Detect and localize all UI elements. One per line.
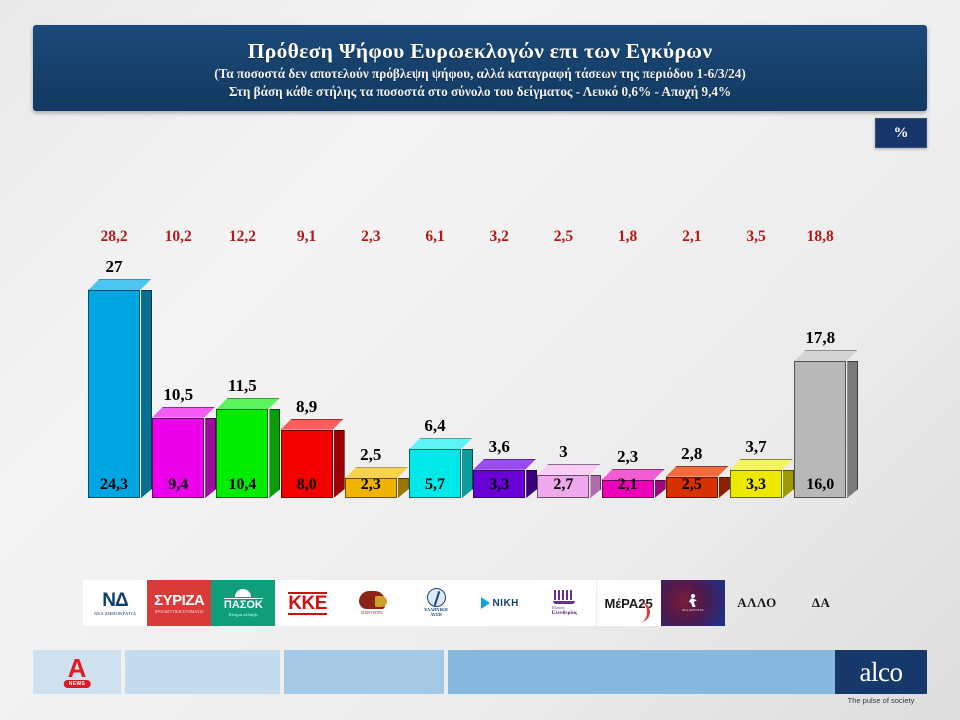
alpha-news-logo: A NEWS [33, 650, 121, 694]
party-logo-mera[interactable]: ΜέΡΑ25 [597, 578, 661, 628]
bar-top-face [88, 279, 151, 290]
bar-el[interactable]: 6,45,7 [409, 449, 461, 498]
bar-side-face [462, 449, 473, 498]
footer-bar-3 [448, 650, 878, 694]
alco-logo: alco [835, 650, 927, 694]
footer-bar: A NEWS alco The pulse of society [0, 646, 960, 720]
bar-allo[interactable]: 3,73,3 [730, 470, 782, 498]
bar-top-label-pleusi: 3 [559, 442, 568, 462]
footer-bar-2 [284, 650, 444, 694]
bar-side-face [783, 470, 794, 498]
bar-inner-label-allo: 3,3 [746, 476, 766, 494]
bar-inner-label-spart: 2,3 [361, 476, 381, 494]
party-logo-el[interactable]: ΕΛΛΗΝΙΚΗΛΥΣΗ [404, 578, 468, 628]
bar-side-face [655, 480, 666, 498]
party-logo-strip: ΝΔΝΕΑ ΔΗΜΟΚΡΑΤΙΑΣΥΡΙΖΑΠΡΟΟΔΕΥΤΙΚΗ ΣΥΜΜΑΧ… [0, 578, 960, 630]
bar-side-face [205, 418, 216, 498]
bar-da[interactable]: 17,816,0 [794, 361, 846, 498]
bar-nearist[interactable]: 2,82,5 [666, 477, 718, 498]
bar-side-face [526, 470, 537, 498]
party-logo-spart[interactable]: ΣΠΑΡΤΙΑΤΕΣ [340, 578, 404, 628]
bar-inner-label-niki: 3,3 [489, 476, 509, 494]
party-logo-da[interactable]: ΔΑ [789, 578, 853, 628]
bar-side-face [719, 477, 730, 498]
party-label-allo: ΑΛΛΟ [737, 595, 776, 611]
party-logo-pleusi[interactable]: ΠλεύσηΕλευθερίας [532, 578, 596, 628]
bar-side-face [398, 478, 409, 498]
bar-kke[interactable]: 8,98,0 [281, 430, 333, 498]
bar-inner-label-kke: 8,0 [297, 476, 317, 494]
bar-top-label-nd: 27 [106, 257, 123, 277]
bar-side-face [334, 430, 345, 498]
alco-wordmark: alco [860, 659, 903, 686]
alco-tagline: The pulse of society [835, 696, 927, 705]
bar-inner-label-nearist: 2,5 [682, 476, 702, 494]
bar-side-face [590, 475, 601, 498]
bar-top-face [152, 407, 215, 418]
party-logo-mark-kke: ΚΚΕ [276, 580, 340, 626]
bar-pasok[interactable]: 11,510,4 [216, 409, 268, 498]
party-logo-mark-pleusi: ΠλεύσηΕλευθερίας [532, 580, 596, 626]
bar-syriza[interactable]: 10,59,4 [152, 418, 204, 498]
bar-spart[interactable]: 2,52,3 [345, 478, 397, 498]
bar-top-face [473, 459, 536, 470]
bar-inner-label-mera: 2,1 [618, 476, 638, 494]
party-logo-syriza[interactable]: ΣΥΡΙΖΑΠΡΟΟΔΕΥΤΙΚΗ ΣΥΜΜΑΧΙΑ [147, 578, 211, 628]
party-logo-mark-spart: ΣΠΑΡΤΙΑΤΕΣ [340, 580, 404, 626]
party-logo-mark-el: ΕΛΛΗΝΙΚΗΛΥΣΗ [404, 580, 468, 626]
bar-inner-label-pasok: 10,4 [228, 476, 256, 494]
party-logo-pasok[interactable]: ΠΑΣΟΚΚίνημα αλλαγής [211, 578, 275, 628]
party-logo-nd[interactable]: ΝΔΝΕΑ ΔΗΜΟΚΡΑΤΙΑ [83, 578, 147, 628]
party-logo-mark-mera: ΜέΡΑ25 [597, 580, 661, 626]
party-logo-nearist[interactable]: ΝΕΑ ΑΡΙΣΤΕΡΑ [661, 578, 725, 628]
bar-top-label-mera: 2,3 [617, 447, 638, 467]
party-label-da: ΔΑ [812, 595, 831, 611]
footer-color-bars: A NEWS [33, 650, 878, 694]
bar-top-label-nearist: 2,8 [681, 444, 702, 464]
bar-top-label-spart: 2,5 [360, 445, 381, 465]
bar-niki[interactable]: 3,63,3 [473, 470, 525, 498]
bar-side-face [141, 290, 152, 498]
party-logo-mark-pasok: ΠΑΣΟΚΚίνημα αλλαγής [211, 580, 275, 626]
party-logo-allo[interactable]: ΑΛΛΟ [725, 578, 789, 628]
bar-top-face [666, 466, 729, 477]
bar-top-face [794, 350, 857, 361]
bar-top-label-da: 17,8 [805, 328, 835, 348]
bar-top-face [281, 419, 344, 430]
bar-pleusi[interactable]: 32,7 [537, 475, 589, 498]
bar-inner-label-nd: 24,3 [100, 476, 128, 494]
bar-inner-label-da: 16,0 [806, 476, 834, 494]
party-logo-kke[interactable]: ΚΚΕ [276, 578, 340, 628]
bar-inner-label-syriza: 9,4 [168, 476, 188, 494]
bar-top-face [730, 459, 793, 470]
party-logo-mark-syriza: ΣΥΡΙΖΑΠΡΟΟΔΕΥΤΙΚΗ ΣΥΜΜΑΧΙΑ [147, 580, 211, 626]
bars-container: 2724,310,59,411,510,48,98,02,52,36,45,73… [0, 0, 960, 640]
bar-top-label-allo: 3,7 [745, 437, 766, 457]
bar-mera[interactable]: 2,32,1 [602, 480, 654, 498]
bar-top-face [537, 464, 600, 475]
bar-top-label-kke: 8,9 [296, 397, 317, 417]
bar-inner-label-el: 5,7 [425, 476, 445, 494]
bar-top-face [409, 438, 472, 449]
party-logo-mark-nearist: ΝΕΑ ΑΡΙΣΤΕΡΑ [661, 580, 725, 626]
bar-chart: 28,210,212,29,12,36,13,22,51,82,13,518,8… [0, 0, 960, 640]
alpha-a-icon: A [68, 657, 87, 680]
bar-top-label-syriza: 10,5 [163, 385, 193, 405]
bar-top-label-el: 6,4 [424, 416, 445, 436]
bar-top-face [216, 398, 279, 409]
bar-side-face [847, 361, 858, 498]
bar-top-label-niki: 3,6 [489, 437, 510, 457]
bar-top-label-pasok: 11,5 [228, 376, 257, 396]
footer-bar-1 [125, 650, 280, 694]
alpha-news-label: NEWS [64, 680, 91, 688]
party-logo-niki[interactable]: ΝΙΚΗ [468, 578, 532, 628]
party-logo-mark-nd: ΝΔΝΕΑ ΔΗΜΟΚΡΑΤΙΑ [83, 580, 147, 626]
bar-side-face [269, 409, 280, 498]
bar-front-face [88, 290, 140, 498]
bar-inner-label-pleusi: 2,7 [553, 476, 573, 494]
bar-nd[interactable]: 2724,3 [88, 290, 140, 498]
party-logo-mark-niki: ΝΙΚΗ [468, 580, 532, 626]
